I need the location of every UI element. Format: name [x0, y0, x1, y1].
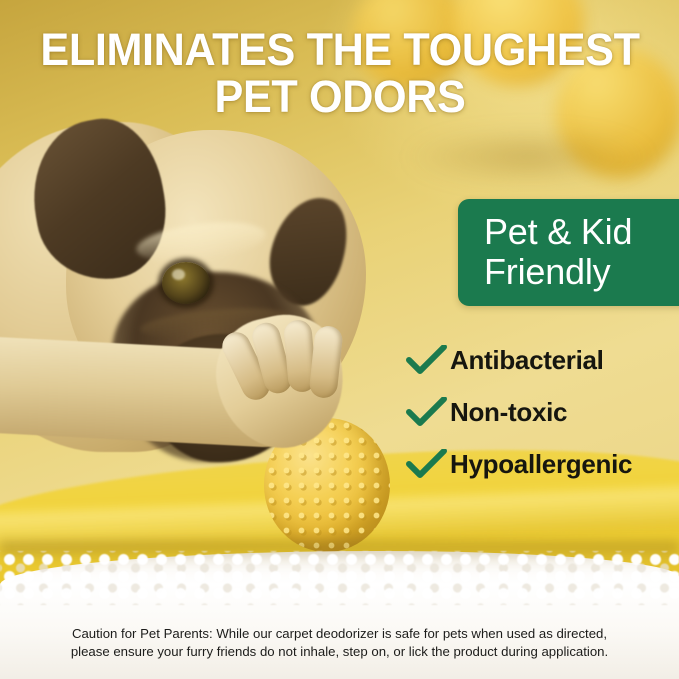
dog-eye	[162, 262, 210, 304]
feature-label: Antibacterial	[450, 345, 604, 376]
check-icon	[406, 345, 450, 375]
badge-label: Pet & Kid Friendly	[484, 212, 679, 292]
page-title: ELIMINATES THE TOUGHEST PET ODORS	[37, 26, 644, 120]
lemon-shadow	[404, 128, 654, 186]
pet-kid-friendly-badge: Pet & Kid Friendly	[458, 199, 679, 306]
feature-list: Antibacterial Non-toxic Hypoallergenic	[406, 336, 674, 492]
check-icon	[406, 397, 450, 427]
list-item: Non-toxic	[406, 388, 674, 436]
list-item: Antibacterial	[406, 336, 674, 384]
product-feature-image: ELIMINATES THE TOUGHEST PET ODORS Pet & …	[0, 0, 679, 679]
list-item: Hypoallergenic	[406, 440, 674, 488]
feature-label: Hypoallergenic	[450, 449, 632, 480]
carpet-texture	[0, 551, 679, 605]
check-icon	[406, 449, 450, 479]
caution-text: Caution for Pet Parents: While our carpe…	[22, 625, 657, 661]
feature-label: Non-toxic	[450, 397, 567, 428]
